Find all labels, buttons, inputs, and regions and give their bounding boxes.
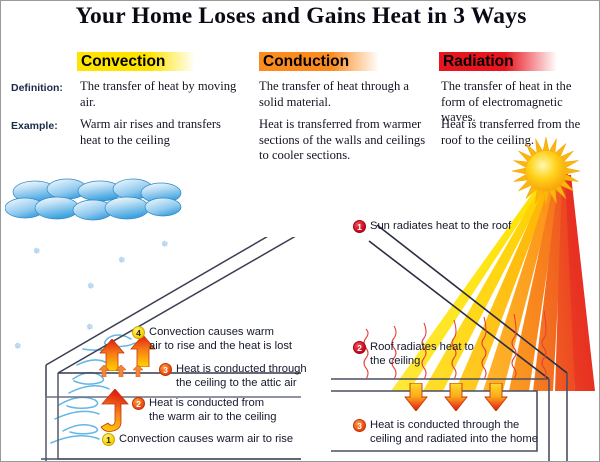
step-badge-2: 2 (132, 397, 145, 410)
definition-conduction: The transfer of heat through a solid mat… (259, 79, 431, 110)
radiation-step-badge-1: 1 (353, 220, 366, 233)
infographic-page: Your Home Loses and Gains Heat in 3 Ways… (0, 0, 600, 462)
step-badge-1: 1 (102, 433, 115, 446)
callout-step-3: Heat is conducted through the ceiling to… (176, 362, 336, 390)
column-header-radiation: Radiation (439, 52, 557, 71)
down-arrow-icon (444, 383, 468, 411)
callout-step-1: Convection causes warm air to rise (119, 432, 319, 446)
callout-step-2: Heat is conducted from the warm air to t… (149, 396, 309, 424)
example-convection: Warm air rises and transfers heat to the… (80, 117, 245, 148)
column-header-conduction: Conduction (259, 52, 379, 71)
radiation-step-badge-2: 2 (353, 341, 366, 354)
radiation-step-badge-3: 3 (353, 419, 366, 432)
down-arrow-icon (484, 383, 508, 411)
radiation-callout-step-3: Heat is conducted through the ceiling an… (370, 418, 590, 446)
callout-step-4: Convection causes warm air to rise and t… (149, 325, 321, 353)
conduction-arrow-icon (116, 364, 126, 376)
row-label-example: Example: (11, 120, 58, 132)
cloud-icon (5, 177, 185, 235)
column-header-convection: Convection (77, 52, 195, 71)
step-badge-4: 4 (132, 326, 145, 339)
definition-convection: The transfer of heat by moving air. (80, 79, 245, 110)
row-label-definition: Definition: (11, 82, 63, 94)
down-arrow-icon (404, 383, 428, 411)
warm-air-curved-arrow-icon (99, 389, 129, 433)
radiation-callout-step-1: Sun radiates heat to the roof (370, 219, 570, 233)
conduction-arrow-icon (133, 364, 143, 376)
radiation-callout-step-2: Roof radiates heat to the ceiling (370, 340, 500, 368)
page-title: Your Home Loses and Gains Heat in 3 Ways (1, 3, 600, 30)
conduction-arrow-icon (99, 364, 109, 376)
step-badge-3: 3 (159, 363, 172, 376)
